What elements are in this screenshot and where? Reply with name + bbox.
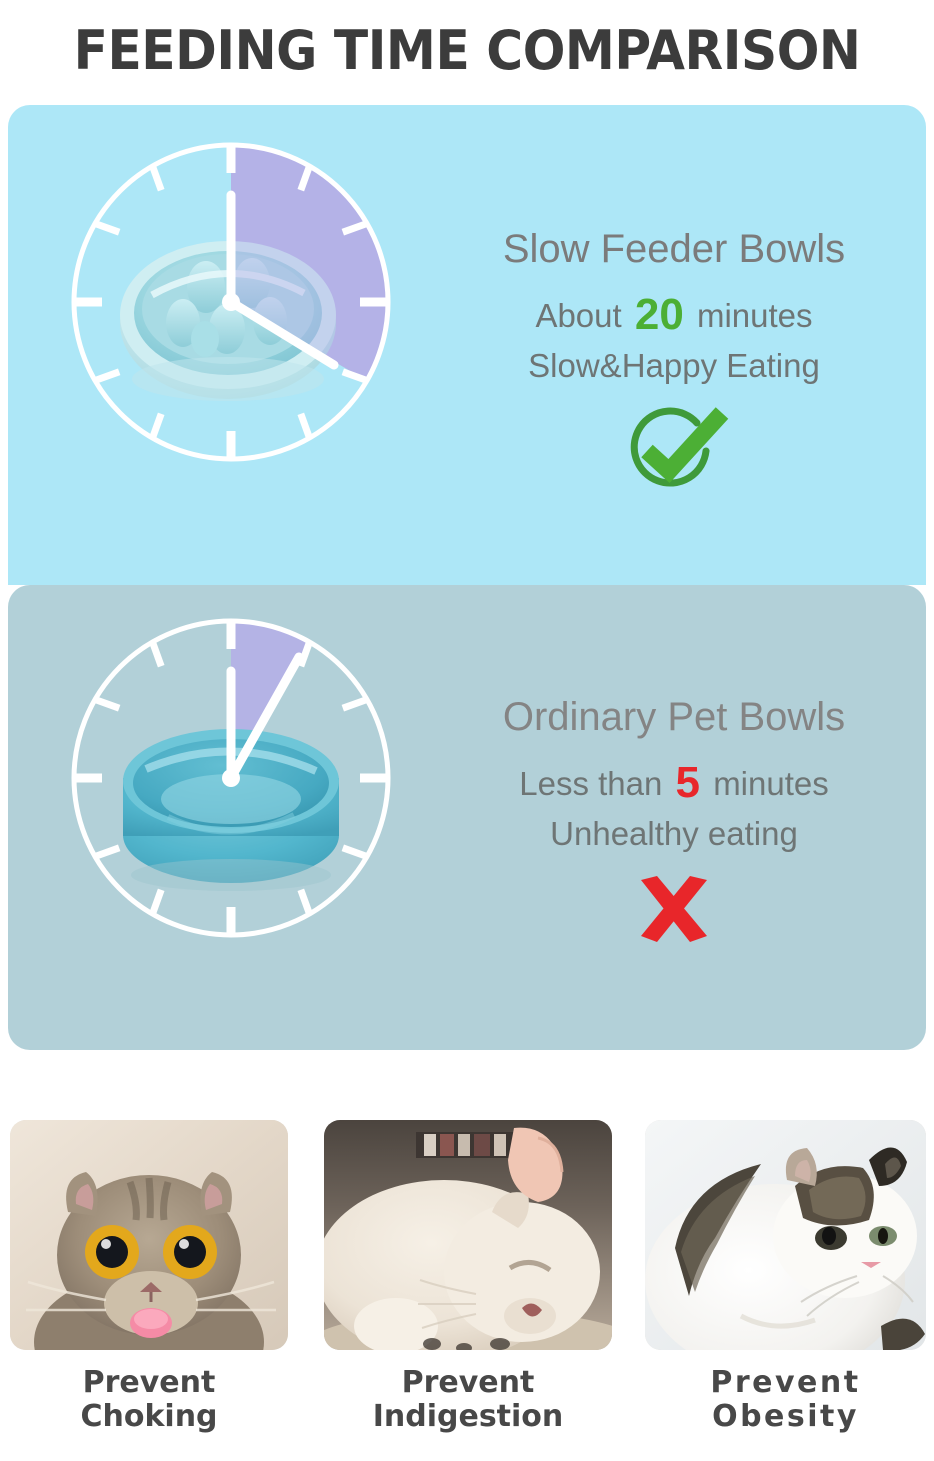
page-header: FEEDING TIME COMPARISON bbox=[0, 0, 934, 100]
slow-feeder-time-line: About 20 minutes bbox=[428, 285, 920, 344]
clock-ordinary-bowl bbox=[56, 603, 406, 953]
benefit-cards: Prevent Choking bbox=[0, 1120, 934, 1461]
benefit-caption-line1: Prevent bbox=[10, 1366, 288, 1400]
comparison-panels: Slow Feeder Bowls About 20 minutes Slow&… bbox=[8, 105, 926, 1050]
cat-photo-indigestion bbox=[324, 1120, 612, 1350]
benefit-caption: Prevent Choking bbox=[10, 1366, 288, 1433]
slow-feeder-time-value: 20 bbox=[631, 290, 688, 339]
cross-mark-icon bbox=[624, 870, 724, 956]
check-circle-icon bbox=[609, 399, 739, 491]
ordinary-bowl-time-prefix: Less than bbox=[519, 765, 662, 802]
ordinary-bowl-time-line: Less than 5 minutes bbox=[428, 753, 920, 812]
benefit-caption-line2: Choking bbox=[10, 1400, 288, 1434]
panel-ordinary-bowl: Ordinary Pet Bowls Less than 5 minutes U… bbox=[8, 585, 926, 1050]
ordinary-bowl-subtitle: Unhealthy eating bbox=[428, 812, 920, 857]
slow-feeder-verdict bbox=[428, 399, 920, 491]
slow-feeder-time-unit: minutes bbox=[697, 297, 813, 334]
slow-feeder-text-block: Slow Feeder Bowls About 20 minutes Slow&… bbox=[428, 227, 920, 491]
clock-slow-feeder bbox=[56, 127, 406, 477]
benefit-caption-line1: Prevent bbox=[645, 1366, 926, 1400]
panel-slow-feeder: Slow Feeder Bowls About 20 minutes Slow&… bbox=[8, 105, 926, 585]
slow-feeder-heading: Slow Feeder Bowls bbox=[428, 227, 920, 271]
cat-photo-choking bbox=[10, 1120, 288, 1350]
benefit-caption-line2: Indigestion bbox=[324, 1400, 612, 1434]
ordinary-bowl-time-value: 5 bbox=[672, 758, 704, 807]
benefit-card: Prevent Obesity bbox=[645, 1120, 926, 1433]
benefit-caption-line2: Obesity bbox=[645, 1400, 926, 1434]
ordinary-bowl-heading: Ordinary Pet Bowls bbox=[428, 695, 920, 739]
slow-feeder-subtitle: Slow&Happy Eating bbox=[428, 344, 920, 389]
benefit-caption: Prevent Indigestion bbox=[324, 1366, 612, 1433]
ordinary-bowl-time-unit: minutes bbox=[713, 765, 829, 802]
benefit-card: Prevent Choking bbox=[10, 1120, 288, 1433]
benefit-caption-line1: Prevent bbox=[324, 1366, 612, 1400]
ordinary-bowl-verdict bbox=[428, 867, 920, 959]
cat-photo-obesity bbox=[645, 1120, 926, 1350]
page-title: FEEDING TIME COMPARISON bbox=[74, 19, 861, 82]
ordinary-bowl-text-block: Ordinary Pet Bowls Less than 5 minutes U… bbox=[428, 695, 920, 959]
slow-feeder-time-prefix: About bbox=[535, 297, 621, 334]
benefit-card: Prevent Indigestion bbox=[324, 1120, 612, 1433]
benefit-caption: Prevent Obesity bbox=[645, 1366, 926, 1433]
